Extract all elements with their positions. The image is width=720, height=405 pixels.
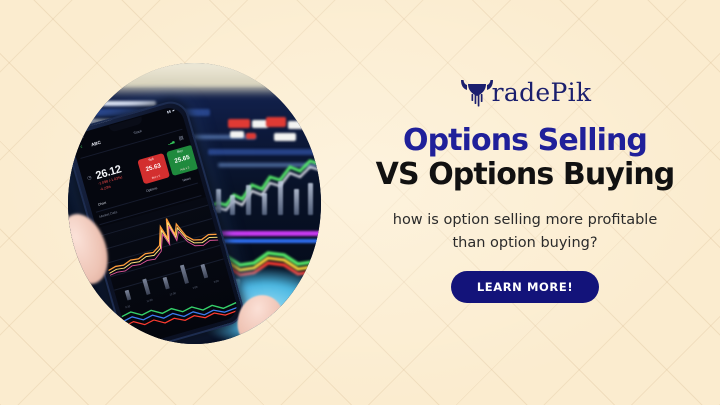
- phone-sub-row: Market Data: [99, 210, 118, 219]
- phone-status-icons: ▮▮ ▰: [166, 108, 175, 114]
- brand-logo-text: radePik: [492, 80, 592, 105]
- bull-head-icon: [459, 77, 495, 107]
- volume-bar: [230, 195, 235, 215]
- ticker-block-white: [230, 131, 244, 138]
- ticker-block-red: [246, 133, 256, 139]
- volume-bar: [262, 193, 267, 215]
- volume-bar: [294, 189, 299, 215]
- ceiling-light-glow: [68, 63, 321, 97]
- ticker-block-white: [274, 133, 296, 141]
- page-title: Options Selling VS Options Buying: [376, 126, 675, 190]
- volume-bar: [201, 264, 209, 279]
- ticker-block-red: [228, 119, 250, 128]
- phone-tab-news[interactable]: News: [182, 176, 191, 182]
- phone-change-percent: -4.23%: [99, 185, 111, 192]
- volume-bar: [216, 189, 221, 213]
- phone-status-time: 9:41: [76, 134, 84, 140]
- signal-indicator: ▁▃▅: [167, 139, 175, 145]
- back-chevron-icon: ‹: [80, 144, 84, 150]
- phone-sell-button[interactable]: Sell 25.63 Bid x 5: [137, 153, 170, 184]
- lock-icon: ▤: [178, 135, 184, 142]
- volume-bar: [125, 290, 132, 301]
- volume-bar: [278, 181, 283, 215]
- hero-photo-circle: 9:41 ▮▮ ▰ ABC ‹ Stock 26.12 -1.098 (-1.0…: [68, 63, 321, 344]
- headline-line-1: Options Selling: [376, 126, 675, 157]
- volume-bar: [163, 277, 170, 290]
- subtitle-line-1: how is option selling more profitable: [393, 209, 658, 231]
- volume-bar: [308, 183, 313, 215]
- brand-logo: radePik: [459, 76, 592, 108]
- monitor-bar: [68, 101, 156, 106]
- phone-symbol: ABC: [90, 140, 101, 148]
- clock-icon: ◷: [87, 175, 93, 182]
- phone-tab-options[interactable]: Options: [145, 186, 157, 193]
- subtitle: how is option selling more profitable th…: [393, 209, 658, 254]
- volume-bar: [142, 278, 150, 294]
- subtitle-line-2: than option buying?: [393, 232, 658, 254]
- cta-wrapper: LEARN MORE!: [451, 271, 599, 303]
- learn-more-button[interactable]: LEARN MORE!: [451, 271, 599, 303]
- ticker-block-white: [288, 121, 306, 129]
- phone-buy-button[interactable]: Buy 25.65 Ask x 3: [166, 145, 199, 176]
- content-column: radePik Options Selling VS Options Buyin…: [355, 0, 695, 405]
- phone-tab-chart[interactable]: Chart: [97, 201, 106, 207]
- headline-line-2: VS Options Buying: [376, 160, 675, 191]
- promo-banner: 9:41 ▮▮ ▰ ABC ‹ Stock 26.12 -1.098 (-1.0…: [0, 0, 720, 405]
- volume-bar: [246, 185, 251, 215]
- ticker-block-red: [266, 117, 286, 127]
- phone-header-label: Stock: [133, 129, 142, 135]
